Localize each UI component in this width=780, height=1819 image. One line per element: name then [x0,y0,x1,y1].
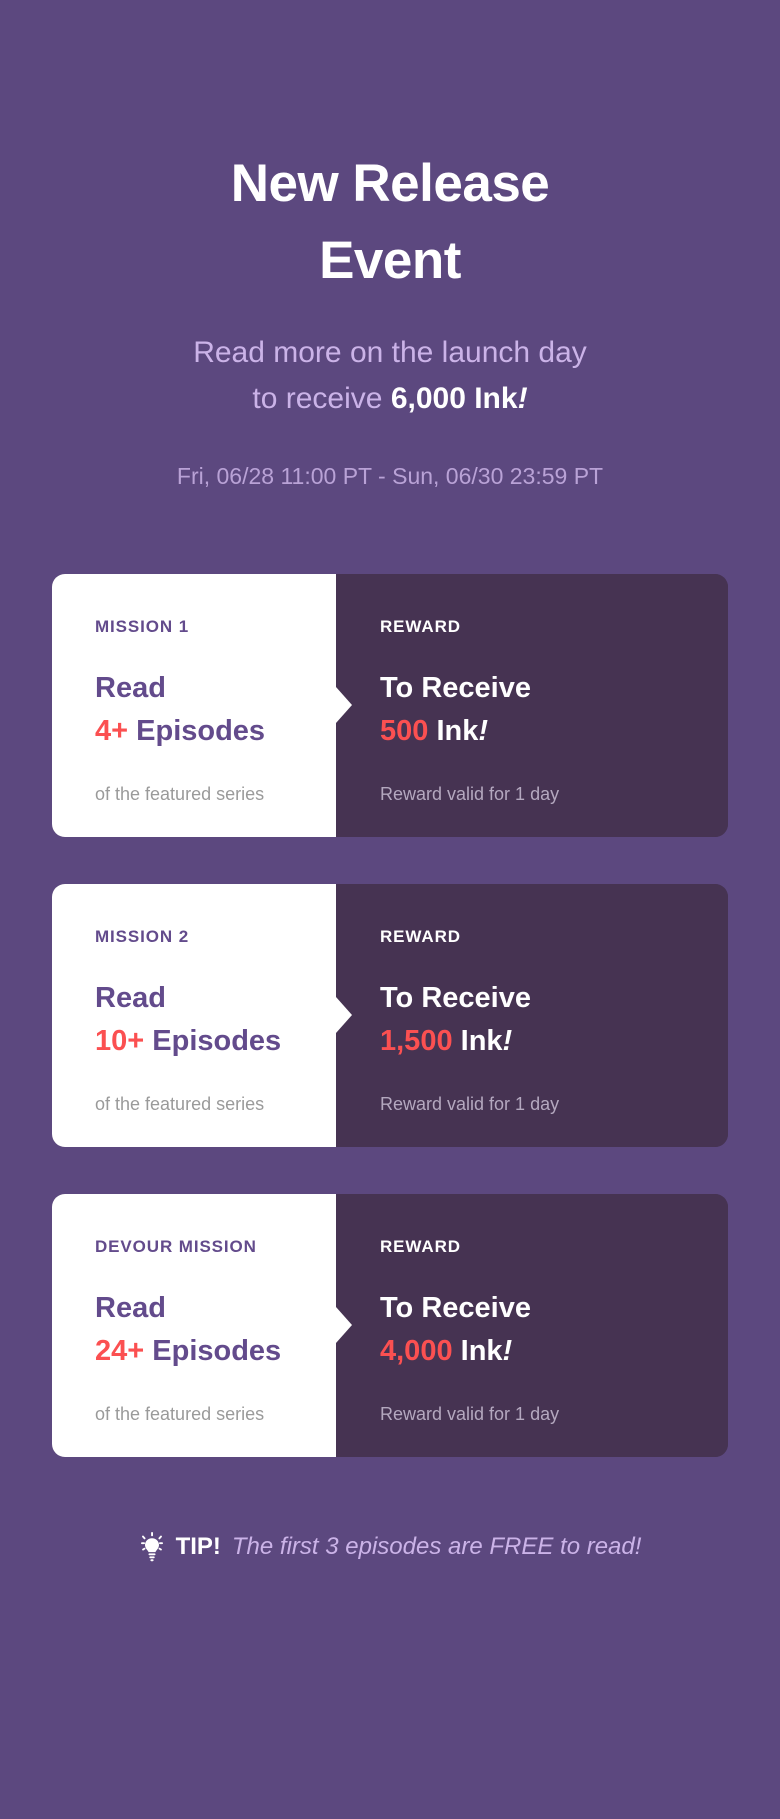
reward-amount-line: 1,500 Ink! [380,1020,728,1063]
mission-card[interactable]: DEVOUR MISSION Read 24+ Episodes of the … [52,1194,728,1457]
reward-unit: Ink [453,1025,503,1057]
subtitle-prefix: to receive [252,382,390,415]
mission-amount-line: 10+ Episodes [95,1020,336,1063]
mission-card[interactable]: MISSION 1 Read 4+ Episodes of the featur… [52,574,728,837]
reward-amount: 4,000 [380,1335,453,1367]
reward-label: REWARD [380,618,728,635]
mission-amount: 24+ [95,1335,144,1367]
mission-unit: Episodes [144,1335,281,1367]
event-subtitle-line2: to receive 6,000 Ink! [0,376,780,423]
mission-amount: 10+ [95,1025,144,1057]
event-date-range: Fri, 06/28 11:00 PT - Sun, 06/30 23:59 P… [0,463,780,490]
reward-verb: To Receive [380,977,728,1020]
reward-label: REWARD [380,1238,728,1255]
mission-label: DEVOUR MISSION [95,1238,336,1255]
event-subtitle-line1: Read more on the launch day [0,330,780,377]
reward-unit: Ink [453,1335,503,1367]
page-title-line2: Event [0,223,780,300]
tip-text: The first 3 episodes are FREE to read! [232,1533,642,1561]
mission-card[interactable]: MISSION 2 Read 10+ Episodes of the featu… [52,884,728,1147]
reward-exclamation: ! [478,715,488,747]
mission-amount-line: 4+ Episodes [95,710,336,753]
reward-note: Reward valid for 1 day [380,1404,728,1425]
mission-card-list: MISSION 1 Read 4+ Episodes of the featur… [0,574,780,1457]
tip-label: TIP! [176,1533,221,1561]
arrow-right-icon [336,687,352,723]
mission-verb: Read [95,667,336,710]
mission-requirement: Read 10+ Episodes [95,977,336,1063]
reward-detail: To Receive 500 Ink! [380,667,728,753]
event-header: New Release Event Read more on the launc… [0,0,780,490]
mission-amount-line: 24+ Episodes [95,1330,336,1373]
mission-amount: 4+ [95,715,128,747]
arrow-right-icon [336,1307,352,1343]
mission-unit: Episodes [144,1025,281,1057]
reward-unit: Ink [428,715,478,747]
reward-amount: 1,500 [380,1025,453,1057]
reward-detail: To Receive 4,000 Ink! [380,1287,728,1373]
mission-verb: Read [95,977,336,1020]
mission-panel: MISSION 2 Read 10+ Episodes of the featu… [52,884,336,1147]
reward-note: Reward valid for 1 day [380,1094,728,1115]
mission-panel: DEVOUR MISSION Read 24+ Episodes of the … [52,1194,336,1457]
mission-unit: Episodes [128,715,265,747]
reward-amount-line: 500 Ink! [380,710,728,753]
reward-panel: REWARD To Receive 4,000 Ink! Reward vali… [336,1194,728,1457]
subtitle-exclamation: ! [518,382,528,415]
lightbulb-icon [139,1532,165,1562]
mission-verb: Read [95,1287,336,1330]
event-subtitle: Read more on the launch day to receive 6… [0,330,780,423]
arrow-right-icon [336,997,352,1033]
reward-verb: To Receive [380,667,728,710]
subtitle-reward-amount: 6,000 Ink [391,382,518,415]
page-title: New Release Event [0,146,780,300]
reward-panel: REWARD To Receive 500 Ink! Reward valid … [336,574,728,837]
reward-amount-line: 4,000 Ink! [380,1330,728,1373]
reward-exclamation: ! [503,1025,513,1057]
tip-banner: TIP! The first 3 episodes are FREE to re… [0,1532,780,1562]
mission-requirement: Read 24+ Episodes [95,1287,336,1373]
reward-detail: To Receive 1,500 Ink! [380,977,728,1063]
mission-note: of the featured series [95,1404,336,1425]
reward-panel: REWARD To Receive 1,500 Ink! Reward vali… [336,884,728,1147]
mission-note: of the featured series [95,1094,336,1115]
mission-panel: MISSION 1 Read 4+ Episodes of the featur… [52,574,336,837]
mission-label: MISSION 2 [95,928,336,945]
reward-label: REWARD [380,928,728,945]
mission-requirement: Read 4+ Episodes [95,667,336,753]
reward-note: Reward valid for 1 day [380,784,728,805]
reward-exclamation: ! [503,1335,513,1367]
reward-amount: 500 [380,715,428,747]
mission-note: of the featured series [95,784,336,805]
reward-verb: To Receive [380,1287,728,1330]
promo-page: New Release Event Read more on the launc… [0,0,780,1819]
page-title-line1: New Release [0,146,780,223]
mission-label: MISSION 1 [95,618,336,635]
